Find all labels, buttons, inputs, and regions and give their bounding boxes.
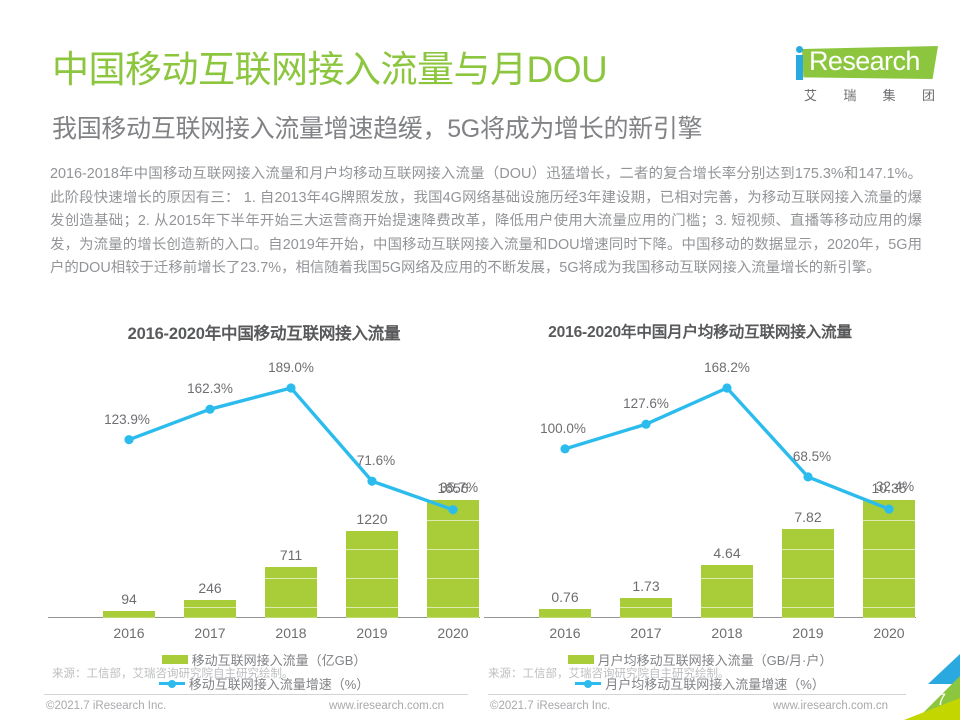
line-value-label: 168.2%	[704, 360, 750, 375]
line-value-label: 189.0%	[268, 360, 314, 375]
x-axis-tick-label: 2019	[356, 625, 387, 641]
chart-title: 2016-2020年中国月户均移动互联网接入流量	[484, 320, 916, 346]
footer-copyright: ©2021.7 iResearch Inc.	[46, 700, 166, 712]
line-value-label: 162.3%	[187, 381, 233, 396]
plot-area: 9424671112201656123.9%162.3%189.0%71.6%3…	[48, 350, 480, 618]
footer-divider	[44, 694, 468, 695]
footer-copyright: ©2021.7 iResearch Inc.	[490, 700, 610, 712]
line-marker	[124, 435, 133, 444]
chart-panel-dou: 2016-2020年中国月户均移动互联网接入流量 0.761.734.647.8…	[484, 320, 916, 700]
line-marker	[448, 505, 457, 514]
line-marker	[367, 477, 376, 486]
logo-cn-char-3: 团	[922, 85, 936, 104]
line-value-label: 123.9%	[104, 412, 150, 427]
line-value-label: 35.7%	[440, 480, 478, 495]
line-value-label: 127.6%	[623, 396, 669, 411]
line-marker	[560, 444, 569, 453]
logo-i-stem-icon	[796, 55, 803, 80]
footer-divider	[488, 694, 906, 695]
line-marker	[884, 505, 893, 514]
x-axis-tick-label: 2017	[194, 625, 225, 641]
x-axis-tick-label: 2019	[792, 625, 823, 641]
plot-area: 0.761.734.647.8210.35100.0%127.6%168.2%6…	[484, 350, 916, 618]
line-path	[565, 388, 889, 509]
corner-decoration	[882, 654, 960, 720]
page-subtitle: 我国移动互联网接入流量增速趋缓，5G将成为增长的新引擎	[52, 112, 702, 146]
growth-line-series	[484, 350, 916, 618]
line-marker	[641, 420, 650, 429]
chart-panel-traffic: 2016-2020年中国移动互联网接入流量 942467111220165612…	[48, 320, 480, 700]
x-axis-tick-label: 2016	[113, 625, 144, 641]
line-value-label: 71.6%	[357, 453, 395, 468]
body-paragraph: 2016-2018年中国移动互联网接入流量和月户均移动互联网接入流量（DOU）迅…	[50, 163, 922, 281]
logo-cn-char-2: 集	[883, 85, 897, 104]
logo-cn-char-1: 瑞	[843, 85, 857, 104]
line-value-label: 68.5%	[793, 449, 831, 464]
line-marker	[205, 405, 214, 414]
chart-source-note: 来源：工信部，艾瑞咨询研究院自主研究绘制。	[488, 665, 730, 681]
logo-wordmark: Research	[809, 46, 920, 77]
x-axis-tick-label: 2016	[549, 625, 580, 641]
legend-bar-swatch-icon	[568, 655, 594, 664]
page-title: 中国移动互联网接入流量与月DOU	[52, 46, 607, 94]
line-marker	[722, 383, 731, 392]
x-axis-tick-label: 2017	[630, 625, 661, 641]
logo-i-dot-icon	[796, 46, 803, 53]
line-marker	[286, 383, 295, 392]
chart-source-note: 来源：工信部，艾瑞咨询研究院自主研究绘制。	[52, 665, 294, 681]
line-value-label: 100.0%	[540, 421, 586, 436]
line-value-label: 32.4%	[876, 479, 914, 494]
x-axis-categories: 20162017201820192020	[48, 618, 480, 648]
footer-url[interactable]: www.iresearch.com.cn	[773, 700, 888, 712]
x-axis-tick-label: 2018	[711, 625, 742, 641]
legend-bar-swatch-icon	[162, 655, 188, 664]
line-marker	[803, 472, 812, 481]
x-axis-categories: 20162017201820192020	[484, 618, 916, 648]
x-axis-tick-label: 2018	[275, 625, 306, 641]
chart-title: 2016-2020年中国移动互联网接入流量	[48, 320, 480, 346]
logo-chinese-name: 艾 瑞 集 团	[804, 85, 936, 104]
iresearch-logo: Research 艾 瑞 集 团	[790, 44, 938, 110]
x-axis-tick-label: 2020	[437, 625, 468, 641]
footer-url[interactable]: www.iresearch.com.cn	[329, 700, 444, 712]
line-path	[129, 388, 453, 510]
growth-line-series	[48, 350, 480, 618]
page-number: 7	[937, 690, 946, 710]
logo-cn-char-0: 艾	[804, 85, 818, 104]
x-axis-tick-label: 2020	[873, 625, 904, 641]
